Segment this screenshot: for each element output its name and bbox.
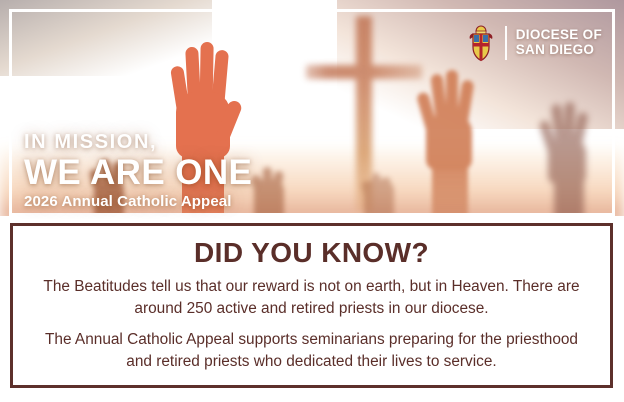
banner-headline-block: IN MISSION, WE ARE ONE 2026 Annual Catho… [24, 132, 252, 209]
banner-subline: 2026 Annual Catholic Appeal [24, 194, 252, 209]
logo-divider [505, 26, 507, 60]
panel-paragraph-1: The Beatitudes tell us that our reward i… [33, 276, 590, 320]
panel-heading: DID YOU KNOW? [33, 238, 590, 267]
acq-flyer: IN MISSION, WE ARE ONE 2026 Annual Catho… [0, 0, 624, 402]
diocese-shield-crest-icon [466, 24, 496, 62]
did-you-know-panel: DID YOU KNOW? The Beatitudes tell us tha… [10, 223, 613, 388]
cross-horizontal-bar [306, 65, 422, 79]
banner-headline: WE ARE ONE [24, 155, 252, 190]
wrist [432, 158, 468, 223]
logo-line-2: SAN DIEGO [516, 43, 602, 58]
banner-bottom-white-gap [0, 216, 624, 223]
hero-banner: IN MISSION, WE ARE ONE 2026 Annual Catho… [0, 0, 624, 223]
diocese-logo: DIOCESE OF SAN DIEGO [466, 24, 602, 62]
panel-content: DID YOU KNOW? The Beatitudes tell us tha… [13, 226, 610, 373]
panel-paragraph-2: The Annual Catholic Appeal supports semi… [33, 329, 590, 373]
raised-hand-midground-icon [412, 62, 486, 223]
logo-wordmark: DIOCESE OF SAN DIEGO [516, 28, 602, 57]
raised-hand-background-icon [536, 96, 598, 223]
logo-line-1: DIOCESE OF [516, 28, 602, 43]
banner-kicker: IN MISSION, [24, 132, 252, 152]
